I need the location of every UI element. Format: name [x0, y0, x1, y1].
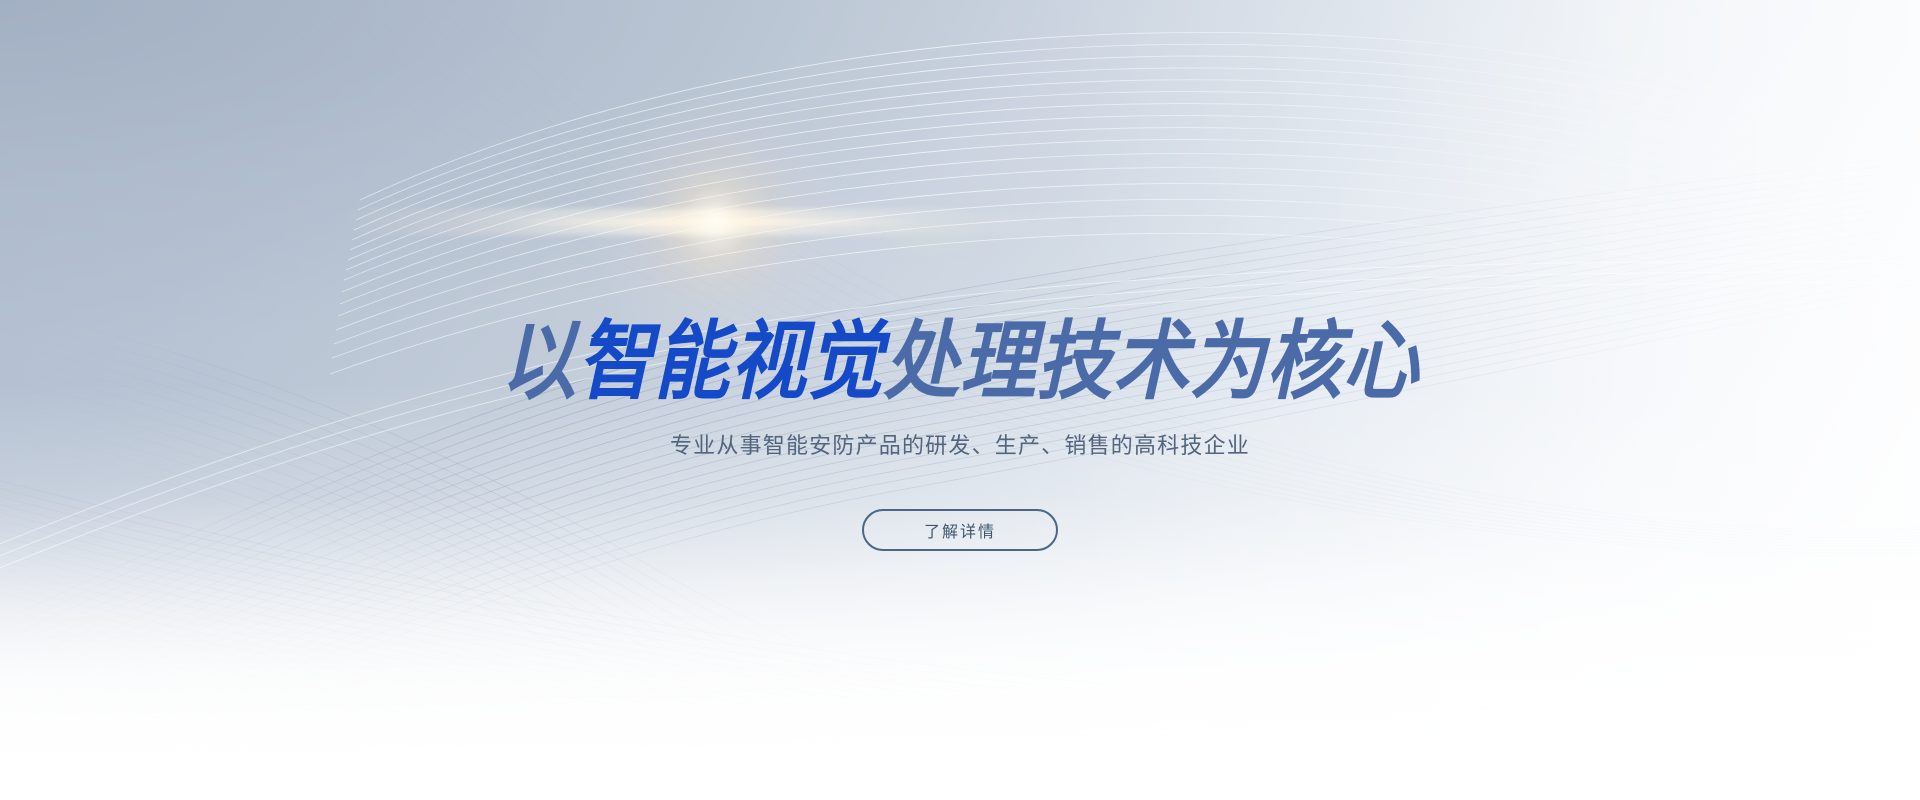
page-subtitle: 专业从事智能安防产品的研发、生产、销售的高科技企业: [0, 431, 1920, 461]
headline-segment-3: 处理技术为核心: [883, 314, 1419, 410]
headline-segment-2: 智能视觉: [577, 314, 883, 410]
hero-banner: 以智能视觉处理技术为核心 专业从事智能安防产品的研发、生产、销售的高科技企业 了…: [0, 0, 1920, 800]
learn-more-button[interactable]: 了解详情: [862, 509, 1058, 551]
headline-segment-1: 以: [501, 314, 578, 410]
cta-container: 了解详情: [0, 509, 1920, 551]
hero-content: 以智能视觉处理技术为核心 专业从事智能安防产品的研发、生产、销售的高科技企业 了…: [0, 0, 1920, 800]
page-title: 以智能视觉处理技术为核心: [115, 318, 1805, 406]
